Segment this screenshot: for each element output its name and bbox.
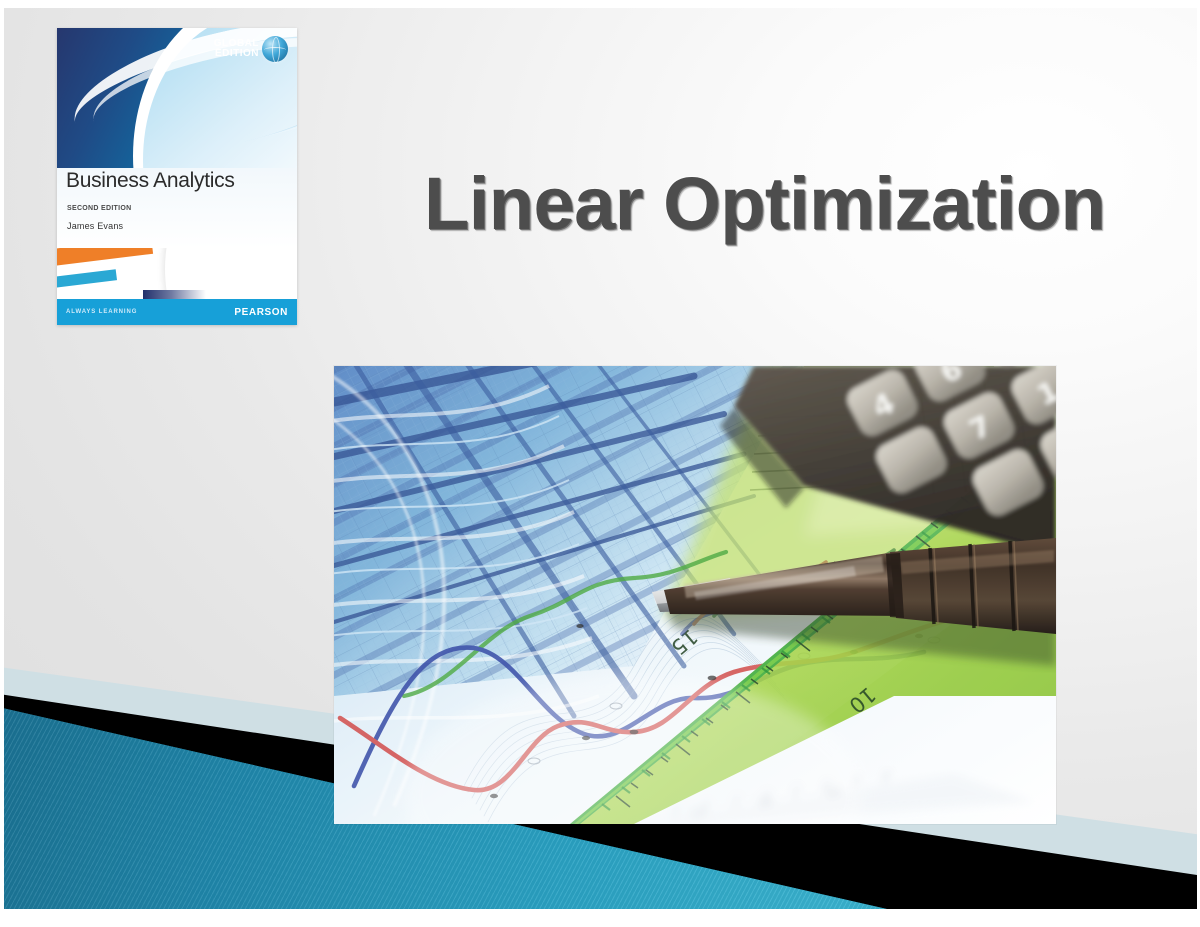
global-edition-text: GLOBAL EDITION [214,39,259,59]
book-title: Business Analytics [66,169,235,193]
book-author: James Evans [67,221,123,231]
global-edition-badge: GLOBAL EDITION [214,36,288,62]
slide-canvas: GLOBAL EDITION Business Analytics SECOND… [4,8,1197,909]
book-cover-spine-bar [143,290,205,299]
pearson-wordmark: PEARSON [234,307,288,318]
book-cover-image: GLOBAL EDITION Business Analytics SECOND… [57,28,297,325]
slide-frame: GLOBAL EDITION Business Analytics SECOND… [0,0,1200,927]
book-cover-footer: ALWAYS LEARNING PEARSON [57,299,297,325]
global-edition-line-2: EDITION [214,49,259,59]
pearson-tagline: ALWAYS LEARNING [66,309,137,315]
slide-title: Linear Optimization [424,167,1124,241]
main-photo-artwork: 12 14 16 [334,366,1056,824]
book-edition: SECOND EDITION [67,205,131,212]
main-photo: 12 14 16 [334,366,1056,824]
globe-icon [262,36,288,62]
